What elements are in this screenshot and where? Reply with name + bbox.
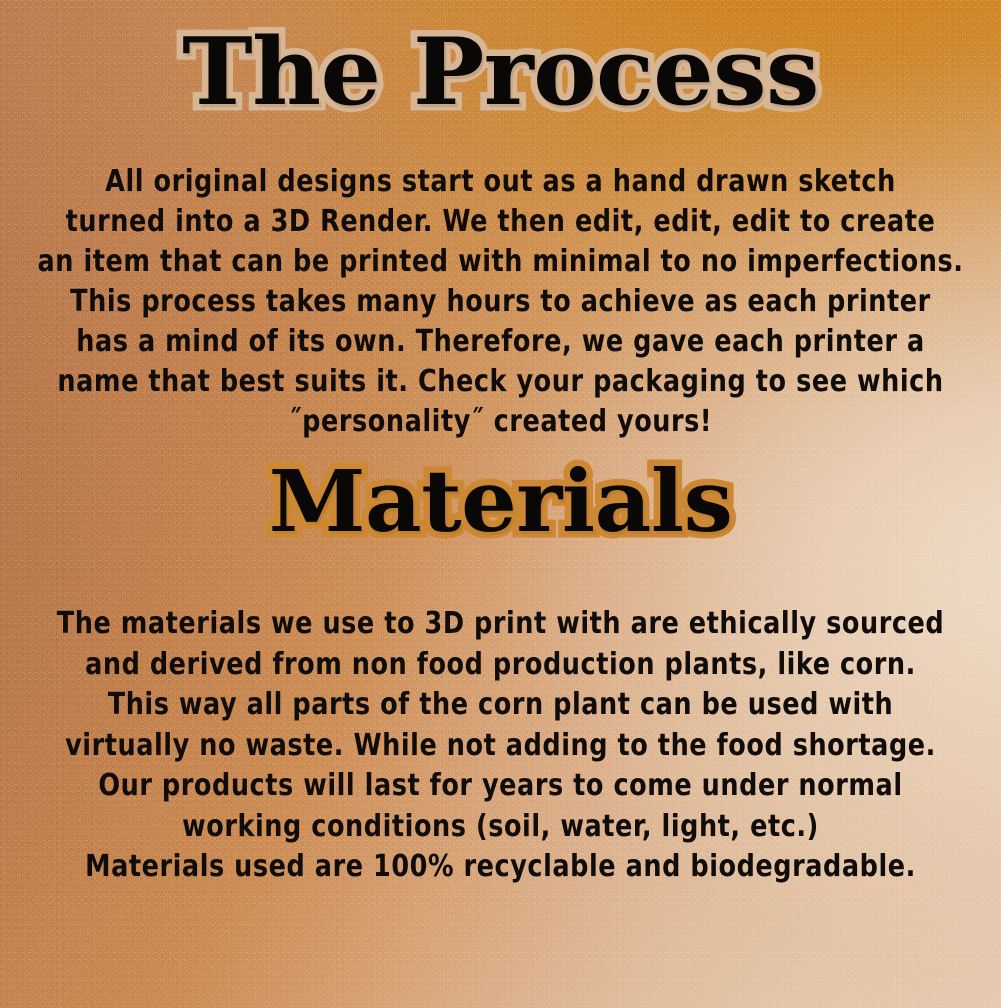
materials-line-1: The materials we use to 3D print with ar… <box>35 604 966 645</box>
materials-line-5: Our products will last for years to come… <box>35 766 966 807</box>
poster-content: The Process All original designs start o… <box>0 0 1001 1008</box>
process-line-6: name that best suits it. Check your pack… <box>35 362 966 402</box>
process-body-text: All original designs start out as a hand… <box>35 162 966 442</box>
materials-line-7: Materials used are 100% recyclable and b… <box>35 847 966 888</box>
process-line-4: This process takes many hours to achieve… <box>35 282 966 322</box>
materials-line-4: virtually no waste. While not adding to … <box>35 726 966 767</box>
materials-body-text: The materials we use to 3D print with ar… <box>35 604 966 888</box>
materials-line-6: working conditions (soil, water, light, … <box>35 807 966 848</box>
process-line-3: an item that can be printed with minimal… <box>35 242 966 282</box>
materials-line-3: This way all parts of the corn plant can… <box>35 685 966 726</box>
materials-heading: Materials <box>0 460 1001 545</box>
process-line-2: turned into a 3D Render. We then edit, e… <box>35 202 966 242</box>
process-heading: The Process <box>0 25 1001 118</box>
process-line-7: ˝personality˝ created yours! <box>35 402 966 442</box>
poster-canvas: The Process All original designs start o… <box>0 0 1001 1008</box>
process-line-5: has a mind of its own. Therefore, we gav… <box>35 322 966 362</box>
process-line-1: All original designs start out as a hand… <box>35 162 966 202</box>
materials-line-2: and derived from non food production pla… <box>35 645 966 686</box>
